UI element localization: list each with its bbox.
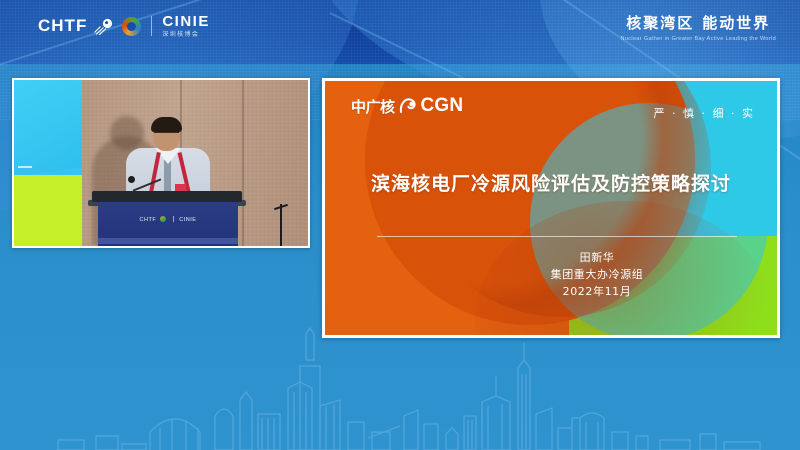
speaker-video-content: CHTF CINIE — [14, 80, 308, 246]
chtf-cinie-brand-lockup: CHTF CINIE 深圳核博会 — [38, 14, 210, 38]
slide-divider-line — [377, 236, 737, 237]
speaker-hair — [151, 117, 182, 132]
floor-mic-stand — [280, 204, 282, 246]
projection-edge-tick — [18, 166, 32, 168]
podium-cinie-text: CINIE — [179, 217, 196, 223]
screenshot-root: CHTF CINIE 深圳核博会 核聚湾区能动世界 Nuclear Gather… — [0, 0, 800, 450]
cgn-logo: 中广核 CGN — [351, 95, 463, 117]
slide-date: 2022年11月 — [417, 283, 777, 300]
slide-title: 滨海核电厂冷源风险评估及防控策略探讨 — [325, 169, 777, 196]
tagline-english: Nuclear Gather in Greater Bay Active Lea… — [621, 36, 776, 42]
cinie-globe-icon — [122, 17, 141, 36]
projection-screen — [14, 80, 82, 246]
speaker-shadow-head — [110, 116, 144, 150]
cinie-wordmark: CINIE 深圳核博会 — [162, 14, 210, 38]
cgn-logo-english: CGN — [421, 95, 464, 117]
cgn-logo-chinese: 中广核 — [351, 96, 395, 117]
slide-byline: 田新华 集团重大办冷源组 2022年11月 — [325, 249, 777, 300]
event-tagline: 核聚湾区能动世界 Nuclear Gather in Greater Bay A… — [621, 12, 776, 42]
speaker-glasses — [154, 132, 179, 138]
presentation-slide-panel[interactable]: 中广核 CGN 严 · 慎 · 细 · 实 滨海核电厂冷源风险评估及防控策略探讨… — [322, 78, 780, 338]
tagline-chinese-right: 能动世界 — [702, 14, 770, 32]
cgn-motto: 严 · 慎 · 细 · 实 — [654, 105, 755, 121]
speaker-video-panel[interactable]: CHTF CINIE — [12, 78, 310, 248]
podium-divider — [173, 216, 174, 222]
podium-chtf-text: CHTF — [140, 217, 157, 223]
slide-author: 田新华 — [417, 249, 777, 266]
projection-green-area — [14, 175, 82, 246]
podium-base-strip — [98, 238, 238, 244]
satellite-icon — [94, 18, 115, 35]
cinie-subtitle: 深圳核博会 — [162, 32, 210, 38]
wall-seam-2 — [242, 80, 244, 246]
tagline-chinese-left: 核聚湾区 — [626, 14, 694, 32]
tagline-chinese: 核聚湾区能动世界 — [621, 12, 776, 33]
microphone-head — [128, 176, 135, 183]
slide-canvas: 中广核 CGN 严 · 慎 · 细 · 实 滨海核电厂冷源风险评估及防控策略探讨… — [325, 81, 777, 335]
cgn-swirl-icon — [398, 96, 418, 116]
slide-affiliation: 集团重大办冷源组 — [417, 266, 777, 283]
chtf-wordmark: CHTF — [38, 16, 87, 36]
podium-desk-top — [92, 191, 242, 202]
podium-globe-icon — [160, 216, 166, 222]
projection-cyan-area — [14, 80, 82, 178]
cinie-name: CINIE — [162, 13, 210, 30]
city-skyline-silhouette — [0, 320, 800, 450]
brand-divider — [151, 16, 152, 36]
podium-branding: CHTF CINIE — [98, 216, 238, 223]
